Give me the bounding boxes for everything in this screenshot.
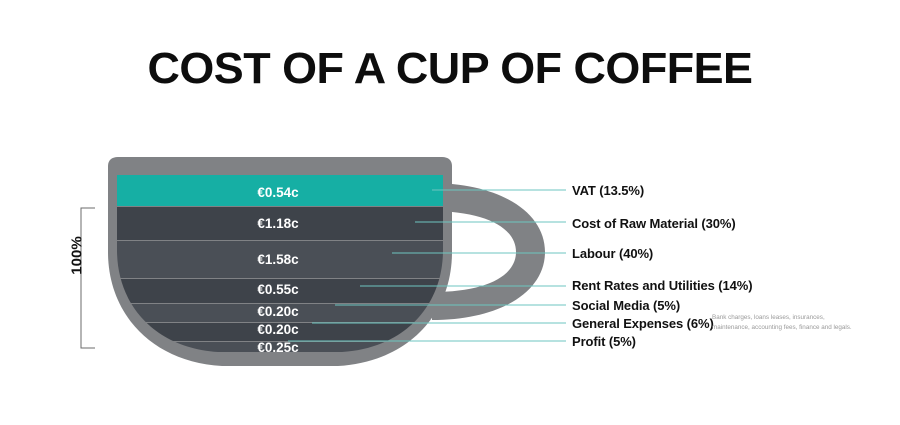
category-label-social-media: Social Media (5%) (572, 298, 680, 313)
layer-value-general-expenses: €0.20c (118, 322, 438, 337)
coffee-cup-infographic: 100% €0.54c €1.18c €1.58c €0.55c €0.20c … (0, 0, 900, 425)
cup-diagram (0, 0, 900, 425)
layer-value-profit: €0.25c (118, 340, 438, 355)
layer-value-labour: €1.58c (118, 252, 438, 267)
bracket-percent-label: 100% (69, 226, 86, 286)
category-label-labour: Labour (40%) (572, 246, 653, 261)
layer-value-rent: €0.55c (118, 282, 438, 297)
layer-value-vat: €0.54c (118, 185, 438, 200)
cup-rim-highlight (117, 175, 443, 181)
general-expenses-footnote: Bank charges, loans leases, insurances, … (712, 313, 862, 333)
layer-value-social-media: €0.20c (118, 304, 438, 319)
category-label-general-expenses: General Expenses (6%) (572, 316, 714, 331)
category-label-raw-material: Cost of Raw Material (30%) (572, 216, 736, 231)
category-label-profit: Profit (5%) (572, 334, 636, 349)
category-label-rent: Rent Rates and Utilities (14%) (572, 278, 753, 293)
category-label-vat: VAT (13.5%) (572, 183, 644, 198)
layer-value-raw-material: €1.18c (118, 216, 438, 231)
